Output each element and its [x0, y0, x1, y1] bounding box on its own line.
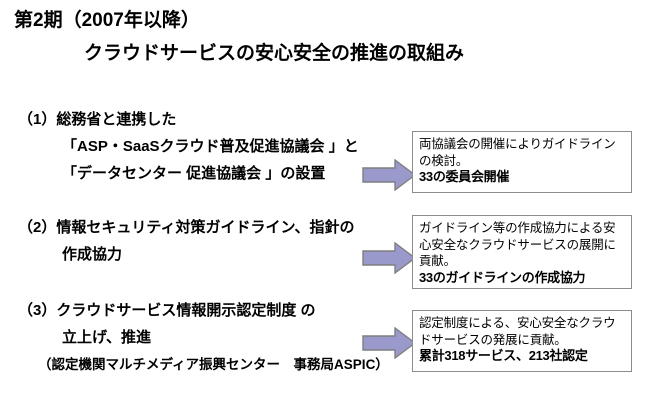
- item-3-line-1: （3）クラウドサービス情報開示認定制度 の: [18, 297, 420, 324]
- callout-1-emphasis: 33の委員会開催: [419, 169, 626, 186]
- callout-2-body: ガイドライン等の作成協力による安心安全なクラウドサービスの展開に貢献。: [419, 220, 626, 270]
- right-arrow-icon: [362, 327, 416, 359]
- title-line-1: 第2期（2007年以降）: [14, 9, 200, 33]
- callout-box-3: 認定制度による、安心安全なクラウドサービスの発展に貢献。 累計318サービス、2…: [412, 310, 632, 372]
- callout-3-body: 認定制度による、安心安全なクラウドサービスの発展に貢献。: [419, 315, 626, 348]
- callout-1-body: 両協議会の開催によりガイドラインの検討。: [419, 136, 626, 169]
- callout-box-2: ガイドライン等の作成協力による安心安全なクラウドサービスの展開に貢献。 33のガ…: [412, 215, 632, 289]
- right-arrow-icon: [362, 242, 416, 274]
- title-line-2: クラウドサービスの安心安全の推進の取組み: [84, 42, 464, 66]
- list-item-2: （2）情報セキュリティ対策ガイドライン、指針の 作成協力: [0, 214, 420, 268]
- item-2-line-1: （2）情報セキュリティ対策ガイドライン、指針の: [18, 214, 420, 241]
- item-1-line-1: （1）総務省と連携した: [18, 106, 420, 133]
- item-1-line-2: 「ASP・SaaSクラウド普及促進協議会 」と: [62, 133, 420, 160]
- callout-3-emphasis: 累計318サービス、213社認定: [419, 348, 626, 365]
- right-arrow-icon: [362, 159, 416, 191]
- callout-box-1: 両協議会の開催によりガイドラインの検討。 33の委員会開催: [412, 131, 632, 193]
- list-item-3: （3）クラウドサービス情報開示認定制度 の 立上げ、推進 （認定機関マルチメディ…: [0, 297, 420, 378]
- list-item-1: （1）総務省と連携した 「ASP・SaaSクラウド普及促進協議会 」と 「データ…: [0, 106, 420, 187]
- callout-2-emphasis: 33のガイドラインの作成協力: [419, 270, 626, 287]
- slide-canvas: 第2期（2007年以降） クラウドサービスの安心安全の推進の取組み （1）総務省…: [0, 0, 651, 409]
